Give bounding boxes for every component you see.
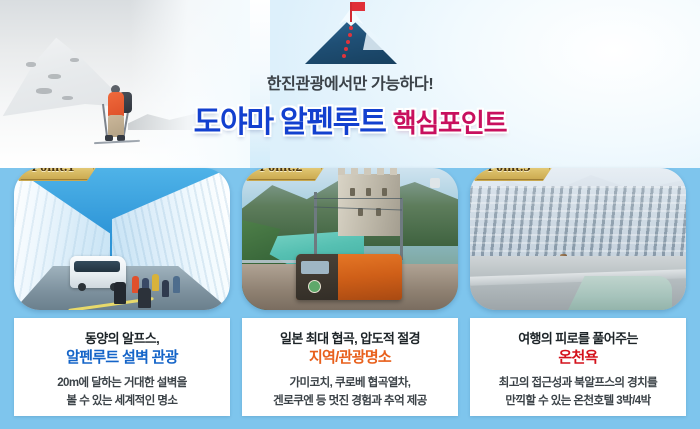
- hero-title: 도야마 알펜루트 핵심포인트: [0, 97, 700, 141]
- point-badge: Point.3: [470, 168, 552, 181]
- hot-spring-pool: [568, 276, 672, 310]
- catenary-wire: [314, 198, 402, 199]
- tower-window: [382, 188, 387, 196]
- gorge-train-icon: [296, 254, 402, 300]
- tower-window: [358, 208, 363, 216]
- card-text-box: 동양의 알프스, 알펜루트 설벽 관광 20m에 달하는 거대한 설벽을 볼 수…: [14, 318, 230, 416]
- onsen-hot-spring-photo: Point.3: [470, 168, 686, 310]
- card-description-line1: 최고의 접근성과 북알프스의 경치를: [499, 377, 657, 389]
- card-description: 최고의 접근성과 북알프스의 경치를 만끽할 수 있는 온천호텔 3박/4박: [478, 375, 678, 411]
- bus-window: [74, 261, 120, 272]
- hero-title-pink: 핵심포인트: [393, 108, 507, 138]
- point-card[interactable]: Point.2 일본 최대 협곡, 압도적 절경 지역/관광명소 가미코치, 쿠…: [242, 168, 458, 416]
- point-card-row: Point.1 동양의 알프스, 알펜루트 설벽 관광 20m에 달하는 거대한…: [0, 168, 700, 429]
- train-cab: [296, 254, 338, 300]
- hero-subtitle: 한진관광에서만 가능하다!: [0, 70, 700, 94]
- card-description-line1: 가미코치, 쿠로베 협곡열차,: [290, 377, 411, 389]
- point-card[interactable]: Point.1 동양의 알프스, 알펜루트 설벽 관광 20m에 달하는 거대한…: [14, 168, 230, 416]
- point-badge-label: Point.1: [31, 168, 74, 176]
- tourist: [173, 276, 180, 293]
- snow-rock: [26, 62, 36, 67]
- bus-wheel: [78, 283, 86, 291]
- card-description-line2: 겐로쿠엔 등 멋진 경험과 추억 제공: [273, 395, 427, 407]
- card-accent-title: 지역/관광명소: [250, 348, 450, 368]
- tourist: [152, 274, 159, 291]
- promo-banner: 한진관광에서만 가능하다! 도야마 알펜루트 핵심포인트: [0, 0, 700, 429]
- tower-window: [366, 188, 371, 196]
- tower-window: [350, 188, 355, 196]
- railway-signal-icon: [430, 178, 440, 188]
- point-badge: Point.2: [242, 168, 324, 181]
- summit-flag-icon: [352, 2, 365, 11]
- card-text-box: 일본 최대 협곡, 압도적 절경 지역/관광명소 가미코치, 쿠로베 협곡열차,…: [242, 318, 458, 416]
- train-window: [301, 261, 329, 274]
- snow-corridor-photo: Point.1: [14, 168, 230, 310]
- card-description-line1: 20m에 달하는 거대한 설벽을: [57, 377, 187, 389]
- tourist: [138, 288, 151, 308]
- card-headline: 일본 최대 협곡, 압도적 절경: [250, 330, 450, 348]
- card-description: 가미코치, 쿠로베 협곡열차, 겐로쿠엔 등 멋진 경험과 추억 제공: [250, 375, 450, 411]
- point-card[interactable]: Point.3 여행의 피로를 풀어주는 온천욕 최고의 접근성과 북알프스의 …: [470, 168, 686, 416]
- stone-tower: [338, 174, 400, 236]
- catenary-pole: [400, 198, 403, 260]
- tourist: [162, 280, 169, 297]
- card-description-line2: 볼 수 있는 세계적인 명소: [67, 395, 178, 407]
- train-emblem: [308, 280, 321, 293]
- point-badge-label: Point.3: [487, 168, 530, 176]
- trail-dot: [346, 40, 350, 44]
- volcano-snow-slope: [363, 28, 391, 50]
- volcano-mountain-icon: [305, 8, 397, 64]
- snow-rock: [70, 58, 79, 62]
- card-headline: 여행의 피로를 풀어주는: [478, 330, 678, 348]
- point-badge: Point.1: [14, 168, 96, 181]
- catenary-pole: [314, 192, 317, 260]
- hero-header: 한진관광에서만 가능하다! 도야마 알펜루트 핵심포인트: [0, 0, 700, 168]
- kurobe-gorge-railway-photo: Point.2: [242, 168, 458, 310]
- trail-dot: [342, 54, 346, 58]
- trail-dot: [348, 33, 352, 37]
- point-badge-label: Point.2: [259, 168, 302, 176]
- card-accent-title: 알펜루트 설벽 관광: [22, 348, 222, 368]
- card-text-box: 여행의 피로를 풀어주는 온천욕 최고의 접근성과 북알프스의 경치를 만끽할 …: [470, 318, 686, 416]
- tourist: [114, 282, 126, 304]
- card-description: 20m에 달하는 거대한 설벽을 볼 수 있는 세계적인 명소: [22, 375, 222, 411]
- trail-dot: [344, 47, 348, 51]
- card-headline: 동양의 알프스,: [22, 330, 222, 348]
- trail-dot: [349, 26, 353, 30]
- card-accent-title: 온천욕: [478, 348, 678, 368]
- card-description-line2: 만끽할 수 있는 온천호텔 3박/4박: [505, 395, 650, 407]
- hero-title-blue: 도야마 알펜루트: [194, 106, 386, 139]
